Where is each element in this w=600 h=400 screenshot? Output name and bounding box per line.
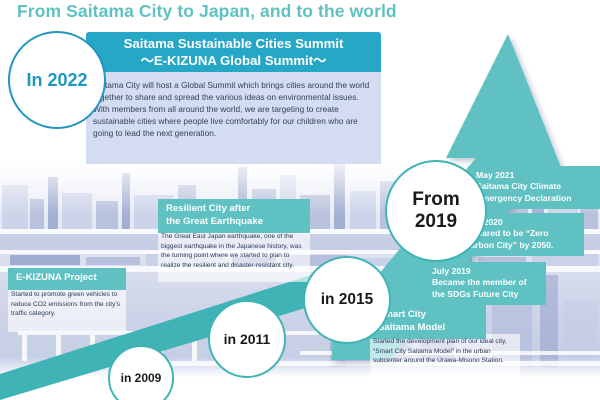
ekizuna-body: Started to promote green vehicles to red… xyxy=(11,290,123,319)
summit-heading-band: Saitama Sustainable Cities Summit 〜E-KIZ… xyxy=(86,32,381,72)
summit-heading-line2: 〜E-KIZUNA Global Summit〜 xyxy=(141,52,327,69)
resilient-heading-line2: the Great Earthquake xyxy=(166,216,302,229)
year-badge-2022-label: In 2022 xyxy=(26,70,87,91)
year-bubble-2009-label: in 2009 xyxy=(121,371,162,385)
smartcity-heading-line2: Saitama Model xyxy=(378,322,478,335)
milestone-may-2021-line1: Saitama City Climate xyxy=(476,181,593,192)
summit-heading-line1: Saitama Sustainable Cities Summit xyxy=(124,35,344,52)
smartcity-heading-line1: Smart City xyxy=(378,309,478,322)
year-bubble-from-2019-line1: From xyxy=(412,189,460,211)
year-bubble-from-2019[interactable]: From 2019 xyxy=(385,160,487,262)
milestone-july-2019: July 2019 Became the member of the SDGs … xyxy=(424,262,546,305)
milestone-july-2019-line1: Became the member of xyxy=(432,277,539,288)
smartcity-body: Started the development plan of our idea… xyxy=(373,337,517,366)
year-bubble-2015-label: in 2015 xyxy=(321,291,374,309)
year-badge-2022[interactable]: In 2022 xyxy=(8,31,106,129)
milestone-may-2021-line2: Emergency Declaration xyxy=(476,193,593,204)
milestone-july-2019-line2: the SDGs Future City xyxy=(432,289,539,300)
year-bubble-2015[interactable]: in 2015 xyxy=(303,256,391,344)
ekizuna-heading-label: E-KIZUNA Project xyxy=(16,272,97,283)
milestone-may-2021-date: May 2021 xyxy=(476,170,593,181)
year-bubble-2011[interactable]: in 2011 xyxy=(208,300,286,378)
year-bubble-2011-label: in 2011 xyxy=(224,331,271,347)
milestone-july-2020-line2: Carbon City” by 2050. xyxy=(464,240,577,251)
year-bubble-from-2019-line2: 2019 xyxy=(412,211,460,233)
summit-body-text: Saitama City will host a Global Summit w… xyxy=(93,80,378,140)
year-bubble-from-2019-label: From 2019 xyxy=(412,189,460,233)
ekizuna-heading: E-KIZUNA Project xyxy=(8,268,126,290)
milestone-july-2019-date: July 2019 xyxy=(432,266,539,277)
resilient-heading-line1: Resilient City after xyxy=(166,203,302,216)
resilient-heading: Resilient City after the Great Earthquak… xyxy=(158,199,310,233)
infographic-canvas: From Saitama City to Japan, and to the w… xyxy=(0,0,600,400)
resilient-body: The Great East Japan earthquake, one of … xyxy=(161,232,307,270)
page-title: From Saitama City to Japan, and to the w… xyxy=(17,1,397,22)
milestone-may-2021: May 2021 Saitama City Climate Emergency … xyxy=(468,166,600,209)
